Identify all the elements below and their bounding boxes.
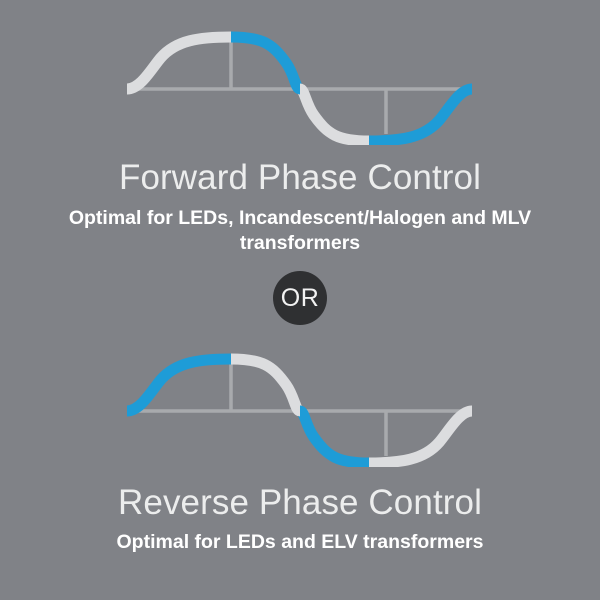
forward-phase-section: Forward Phase Control Optimal for LEDs, … (0, 0, 600, 256)
forward-segment-on-1 (231, 37, 300, 89)
reverse-segment-off-1 (231, 359, 300, 411)
forward-segment-off-1 (127, 37, 231, 89)
reverse-title: Reverse Phase Control (0, 484, 600, 522)
reverse-segment-on-1 (127, 359, 231, 411)
reverse-segment-on-2 (300, 411, 369, 463)
forward-segment-off-2 (300, 89, 369, 141)
reverse-phase-section: Reverse Phase Control Optimal for LEDs a… (0, 322, 600, 555)
reverse-waveform-diagram (0, 322, 600, 467)
forward-waveform-svg (0, 0, 600, 145)
forward-subtitle: Optimal for LEDs, Incandescent/Halogen a… (0, 206, 600, 256)
or-divider-label: OR (281, 286, 320, 311)
forward-waveform-diagram (0, 0, 600, 145)
or-divider-badge: OR (273, 271, 327, 325)
reverse-subtitle: Optimal for LEDs and ELV transformers (0, 530, 600, 555)
reverse-waveform-svg (0, 322, 600, 467)
forward-title: Forward Phase Control (0, 159, 600, 197)
